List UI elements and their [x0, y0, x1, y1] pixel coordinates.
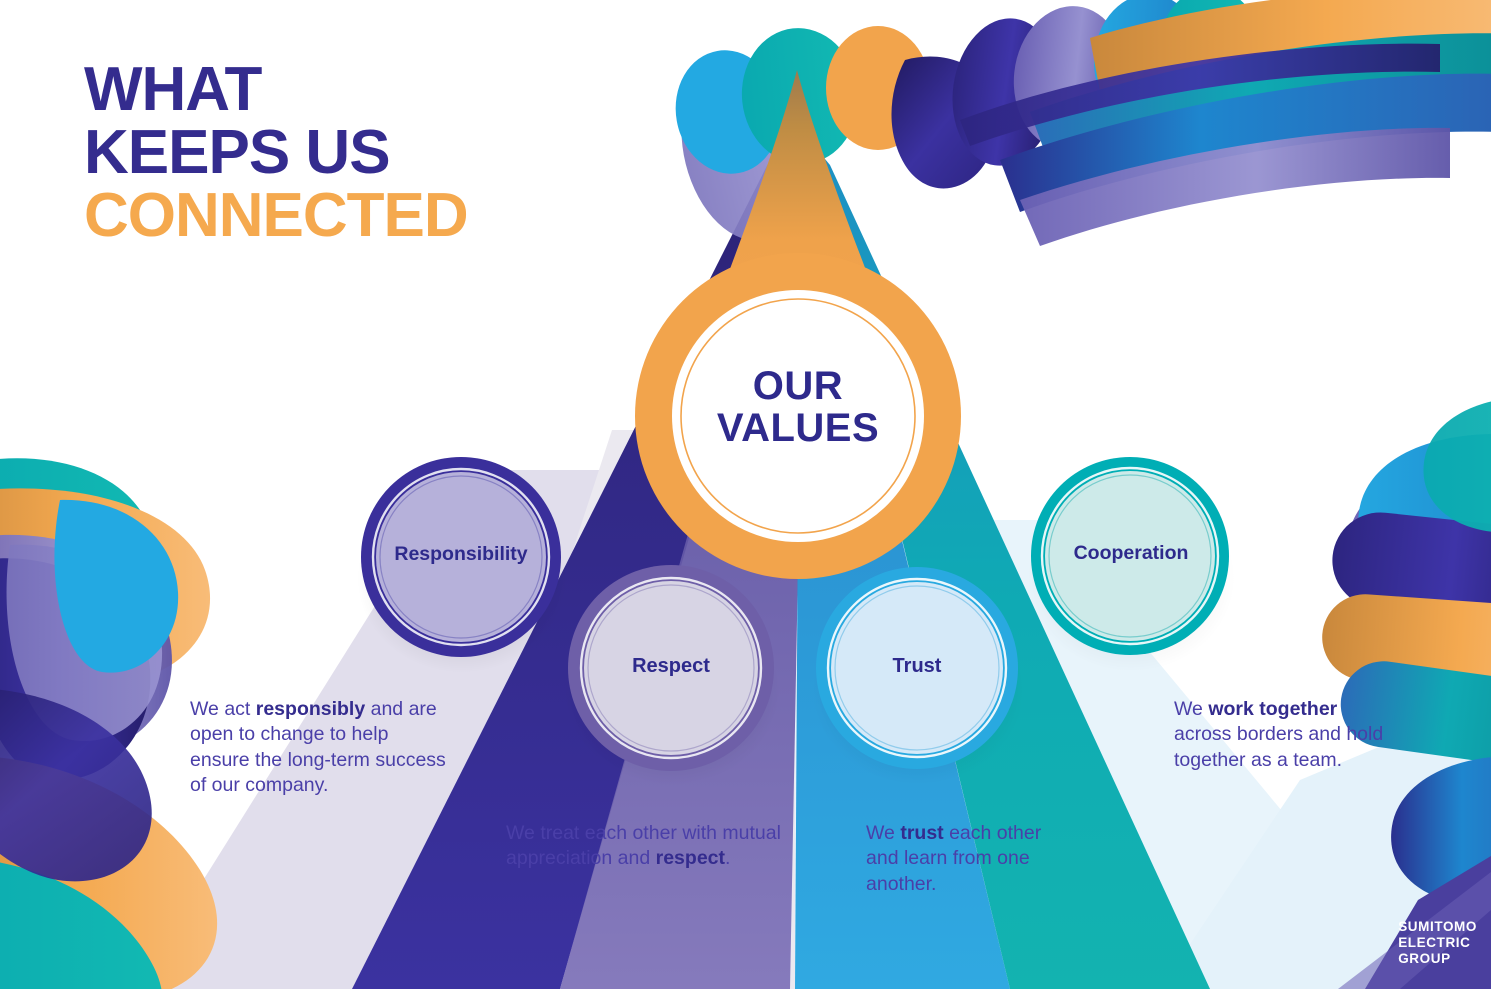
- desc-pre: We act: [190, 698, 256, 720]
- headline-line-2: KEEPS US: [84, 121, 468, 184]
- our-values-label: OUR VALUES: [648, 365, 948, 450]
- desc-bold: trust: [900, 822, 943, 844]
- ribbon-cluster-left: [0, 458, 217, 989]
- logo-line-2: ELECTRIC: [1398, 935, 1470, 950]
- desc-bold: respect: [656, 847, 725, 869]
- our-values-line-1: OUR: [753, 364, 843, 408]
- value-description-cooperation: We work together across borders and hold…: [1174, 697, 1389, 773]
- desc-post: .: [725, 847, 730, 869]
- desc-bold: work together: [1208, 698, 1337, 720]
- desc-pre: We treat each other with mutual apprecia…: [506, 822, 781, 869]
- value-description-trust: We trust each other and learn from one a…: [866, 821, 1078, 897]
- page-title: WHAT KEEPS US CONNECTED: [84, 58, 468, 248]
- desc-post: across borders and hold together as a te…: [1174, 723, 1383, 770]
- value-description-responsibility: We act responsibly and are open to chang…: [190, 697, 448, 798]
- value-circle-cooperation: [1027, 457, 1235, 672]
- sumitomo-electric-group-logo: SUMITOMO ELECTRIC GROUP: [1398, 919, 1477, 967]
- logo-line-1: SUMITOMO: [1398, 919, 1477, 934]
- desc-pre: We: [866, 822, 900, 844]
- logo-line-3: GROUP: [1398, 951, 1451, 966]
- desc-pre: We: [1174, 698, 1208, 720]
- value-description-respect: We treat each other with mutual apprecia…: [506, 821, 791, 872]
- our-values-line-2: VALUES: [717, 406, 879, 450]
- headline-line-3: CONNECTED: [84, 184, 468, 247]
- headline-line-1: WHAT: [84, 58, 468, 121]
- infographic-canvas: WHAT KEEPS US CONNECTED OUR VALUES Respo…: [0, 0, 1491, 989]
- desc-bold: responsibly: [256, 698, 365, 720]
